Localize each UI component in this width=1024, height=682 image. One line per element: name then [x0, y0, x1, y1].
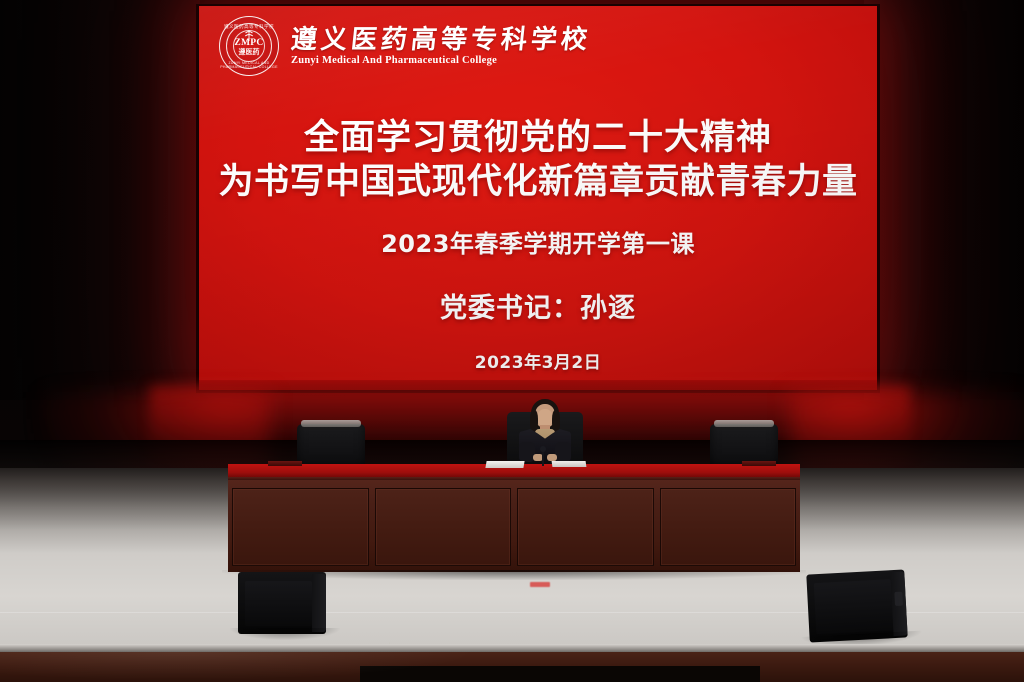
table-front-panels	[228, 480, 800, 572]
college-logo-lockup: 遵义医药高等专科学校 ZMPC 遵医药 ZUNYI MEDICAL AND PH…	[219, 16, 591, 76]
nameplate-left	[268, 461, 302, 466]
microphone-icon	[541, 448, 545, 466]
slide-headline-line-1: 全面学习贯彻党的二十大精神	[199, 118, 877, 159]
presenter-hand-right	[547, 454, 557, 461]
table-panel	[660, 488, 797, 566]
presentation-screen: 遵义医药高等专科学校 ZMPC 遵医药 ZUNYI MEDICAL AND PH…	[199, 6, 877, 390]
seated-presenter	[505, 398, 585, 470]
chair-head-rail	[714, 420, 774, 427]
microphone-head	[540, 446, 546, 452]
slide-content: 全面学习贯彻党的二十大精神 为书写中国式现代化新篇章贡献青春力量 2023年春季…	[199, 118, 877, 373]
college-name-en: Zunyi Medical And Pharmaceutical College	[291, 55, 591, 67]
right-curtain	[864, 0, 1024, 400]
monitor-grille	[245, 581, 312, 626]
presenter-arm-right	[555, 442, 571, 462]
papers-right	[552, 461, 587, 467]
table-panel	[232, 488, 369, 566]
seal-monogram: ZMPC	[220, 39, 278, 49]
chair-head-rail	[301, 420, 361, 427]
floor-monitor-left	[238, 572, 326, 634]
head-table	[228, 464, 800, 576]
floor-tape-mark	[530, 582, 550, 587]
monitor-handle	[894, 591, 903, 605]
monitor-side	[312, 574, 326, 632]
monitor-grille	[814, 579, 894, 634]
college-seal-icon: 遵义医药高等专科学校 ZMPC 遵医药 ZUNYI MEDICAL AND PH…	[219, 16, 279, 76]
slide-headline-line-2: 为书写中国式现代化新篇章贡献青春力量	[199, 162, 877, 203]
stage-lip	[0, 644, 1024, 652]
college-name-block: 遵义医药高等专科学校 Zunyi Medical And Pharmaceuti…	[291, 26, 591, 67]
auditorium-stage-photo: 遵义医药高等专科学校 ZMPC 遵医药 ZUNYI MEDICAL AND PH…	[0, 0, 1024, 682]
table-panel	[375, 488, 512, 566]
table-panel	[517, 488, 654, 566]
seal-monogram-sub: 遵医药	[220, 49, 278, 56]
slide-subheadline: 2023年春季学期开学第一课	[199, 224, 877, 259]
slide-speaker-name: 党委书记：孙逐	[199, 286, 877, 325]
stage-apron-glow	[0, 652, 1024, 682]
slide-date: 2023年3月2日	[199, 348, 877, 373]
nameplate-right	[742, 461, 776, 466]
college-name-cn: 遵义医药高等专科学校	[290, 26, 593, 54]
papers-left	[485, 461, 524, 468]
left-curtain	[0, 0, 200, 400]
seal-arc-bottom-text: ZUNYI MEDICAL AND PHARMACEUTICAL COLLEGE	[220, 61, 278, 69]
